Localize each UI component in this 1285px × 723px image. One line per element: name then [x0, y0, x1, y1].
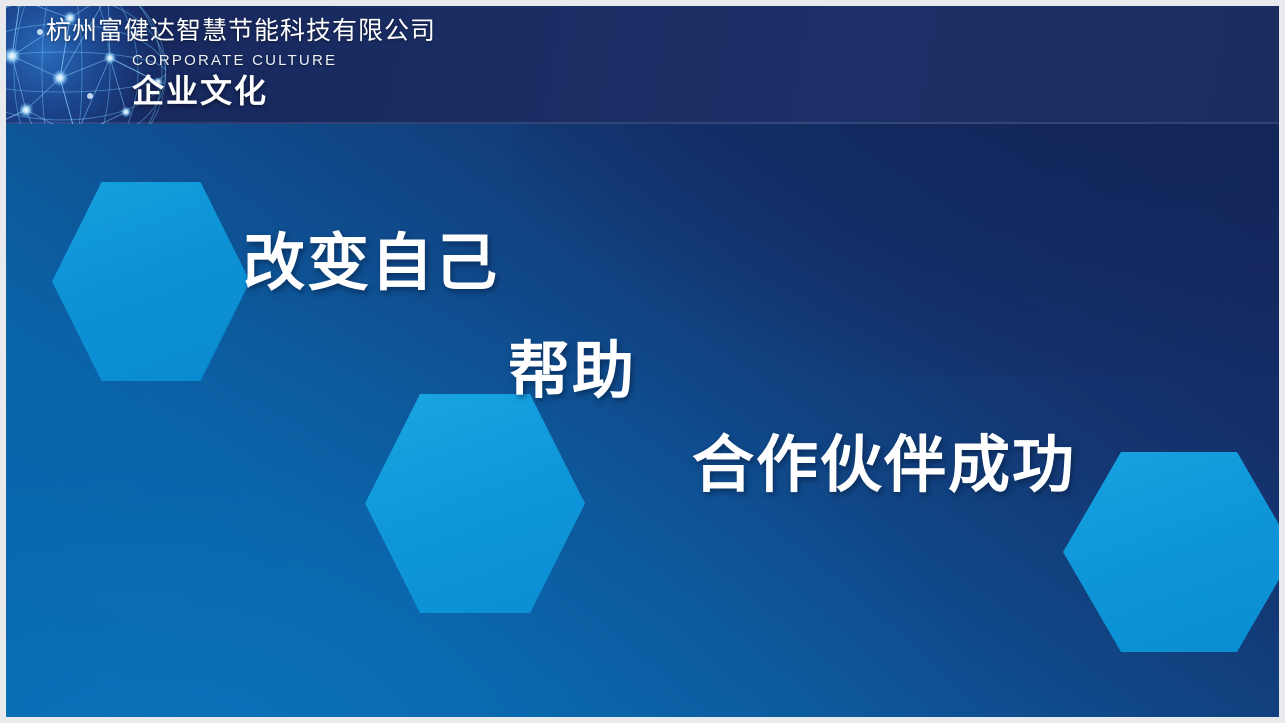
company-name: 杭州富健达智慧节能科技有限公司	[46, 14, 436, 48]
slogan-help: 帮助	[508, 335, 636, 409]
header-text-group: 杭州富健达智慧节能科技有限公司 CORPORATE CULTURE 企业文化	[46, 14, 436, 111]
slide-header-band: 杭州富健达智慧节能科技有限公司 CORPORATE CULTURE 企业文化	[6, 6, 1279, 124]
slogan-change-yourself: 改变自己	[243, 227, 499, 301]
slogan-partner-success: 合作伙伴成功	[692, 429, 1076, 503]
presentation-slide: 杭州富健达智慧节能科技有限公司 CORPORATE CULTURE 企业文化 改…	[0, 0, 1285, 723]
section-title-chinese: 企业文化	[132, 71, 436, 111]
section-title-english: CORPORATE CULTURE	[132, 51, 436, 70]
